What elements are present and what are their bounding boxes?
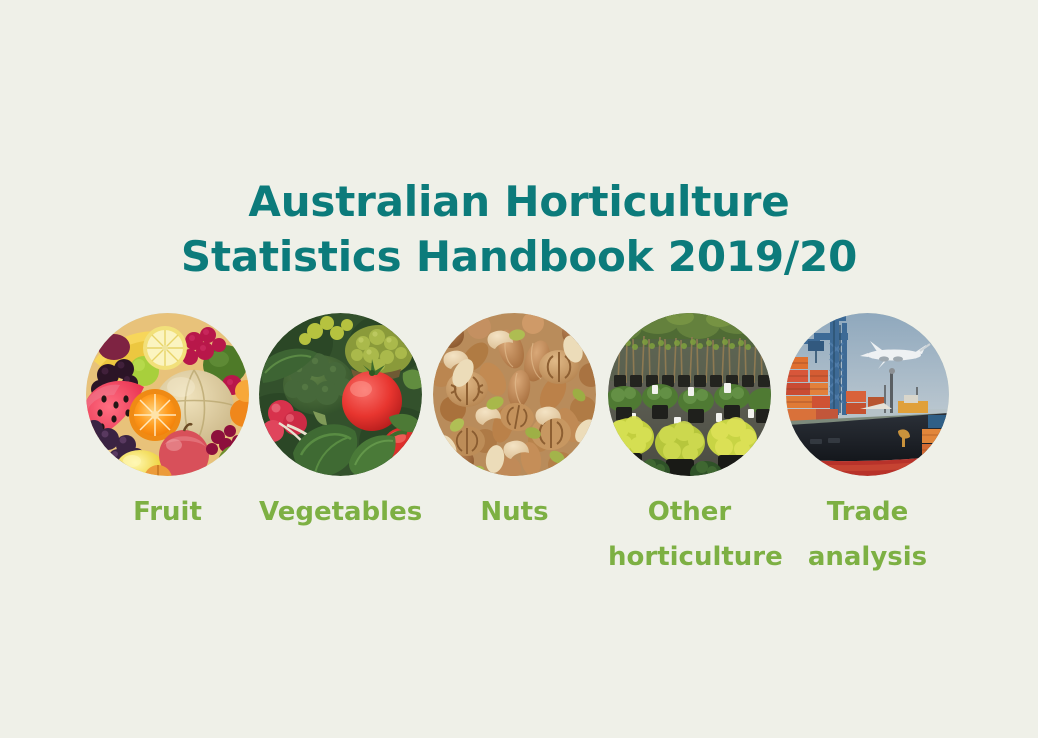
category-card-row: Fruit	[86, 313, 952, 593]
plant-nursery-photo[interactable]	[608, 313, 771, 476]
category-label-other-horticulture[interactable]: Other horticulture	[608, 490, 771, 580]
category-label-other-horticulture-line-1: Other	[608, 490, 771, 535]
cover-page: Australian Horticulture Statistics Handb…	[0, 0, 1038, 738]
category-label-other-horticulture-line-2: horticulture	[608, 535, 771, 580]
mixed-nuts-photo[interactable]	[433, 313, 596, 476]
page-title: Australian Horticulture Statistics Handb…	[0, 174, 1038, 284]
category-card-other-horticulture[interactable]: Other horticulture	[608, 313, 771, 580]
fruit-assortment-photo[interactable]	[86, 313, 249, 476]
category-label-vegetables[interactable]: Vegetables	[259, 490, 422, 535]
page-title-line-2: Statistics Handbook 2019/20	[0, 229, 1038, 284]
category-label-nuts[interactable]: Nuts	[433, 490, 596, 535]
category-card-trade-analysis[interactable]: Trade analysis	[786, 313, 949, 580]
category-card-nuts[interactable]: Nuts	[433, 313, 596, 535]
category-label-trade-analysis-line-1: Trade	[786, 490, 949, 535]
vegetable-assortment-photo[interactable]	[259, 313, 422, 476]
category-label-trade-analysis-line-2: analysis	[786, 535, 949, 580]
page-title-line-1: Australian Horticulture	[0, 174, 1038, 229]
category-label-trade-analysis[interactable]: Trade analysis	[786, 490, 949, 580]
category-card-fruit[interactable]: Fruit	[86, 313, 249, 535]
category-label-fruit[interactable]: Fruit	[86, 490, 249, 535]
shipping-port-photo[interactable]	[786, 313, 949, 476]
category-card-vegetables[interactable]: Vegetables	[259, 313, 422, 535]
